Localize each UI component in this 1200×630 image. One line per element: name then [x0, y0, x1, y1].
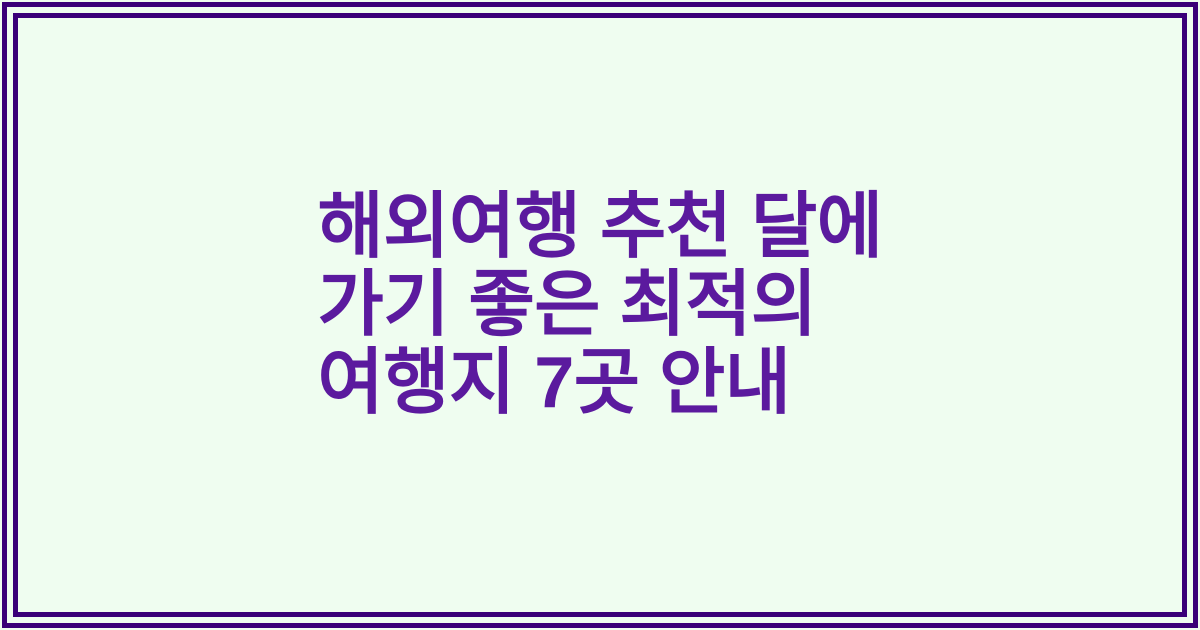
headline-line-2: 가기 좋은 최적의: [318, 266, 883, 344]
headline-line-3: 여행지 7곳 안내: [318, 344, 883, 422]
headline-line-1: 해외여행 추천 달에: [318, 188, 883, 266]
thumbnail-card: 해외여행 추천 달에 가기 좋은 최적의 여행지 7곳 안내: [0, 0, 1200, 630]
headline-title: 해외여행 추천 달에 가기 좋은 최적의 여행지 7곳 안내: [318, 188, 883, 422]
inner-border-frame: 해외여행 추천 달에 가기 좋은 최적의 여행지 7곳 안내: [13, 13, 1187, 617]
outer-border-frame: 해외여행 추천 달에 가기 좋은 최적의 여행지 7곳 안내: [2, 2, 1198, 628]
